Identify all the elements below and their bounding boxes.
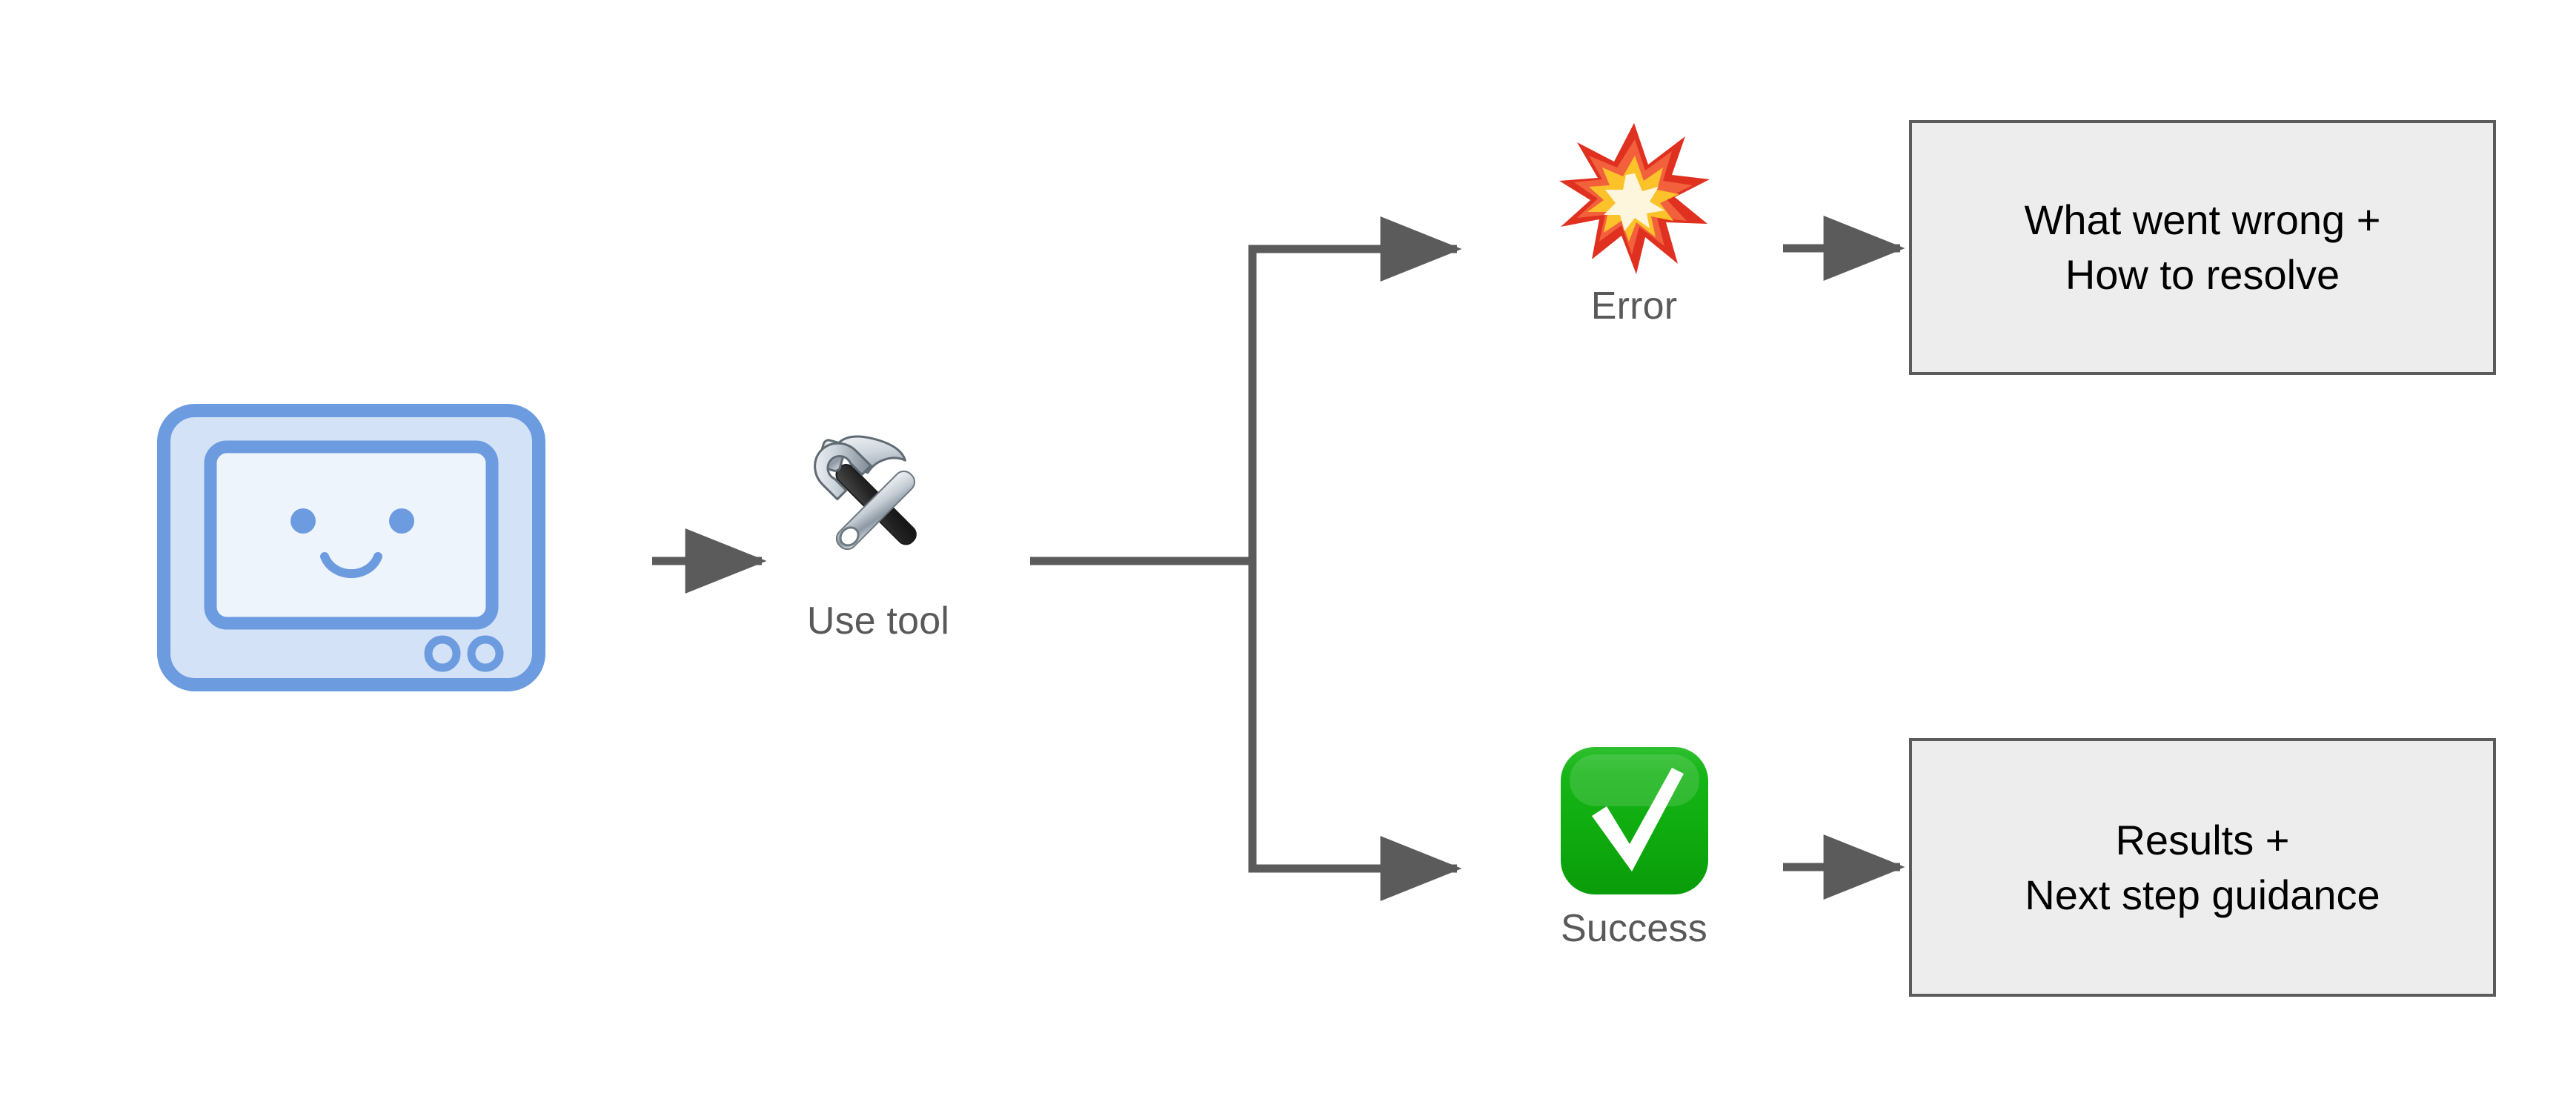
diagram-canvas: Use tool Error bbox=[0, 0, 2576, 1119]
edge-branch-to-success bbox=[1252, 561, 1457, 869]
error-outcome-box: What went wrong + How to resolve bbox=[1909, 120, 2496, 375]
hammer-and-wrench-icon bbox=[793, 422, 963, 593]
node-error: Error bbox=[1527, 119, 1742, 328]
computer-smiling-face-icon bbox=[157, 404, 545, 691]
success-outcome-box: Results + Next step guidance bbox=[1909, 738, 2496, 997]
node-use-tool: Use tool bbox=[771, 422, 986, 643]
node-label-use-tool: Use tool bbox=[771, 599, 986, 643]
success-outcome-text: Results + Next step guidance bbox=[2007, 813, 2397, 923]
node-label-error: Error bbox=[1527, 284, 1742, 328]
collision-explosion-icon bbox=[1555, 119, 1714, 278]
error-outcome-text: What went wrong + How to resolve bbox=[2007, 193, 2399, 302]
white-check-mark-icon bbox=[1555, 741, 1714, 900]
node-label-success: Success bbox=[1527, 906, 1742, 951]
edge-branch-to-error bbox=[1252, 249, 1457, 561]
node-success: Success bbox=[1527, 741, 1742, 951]
